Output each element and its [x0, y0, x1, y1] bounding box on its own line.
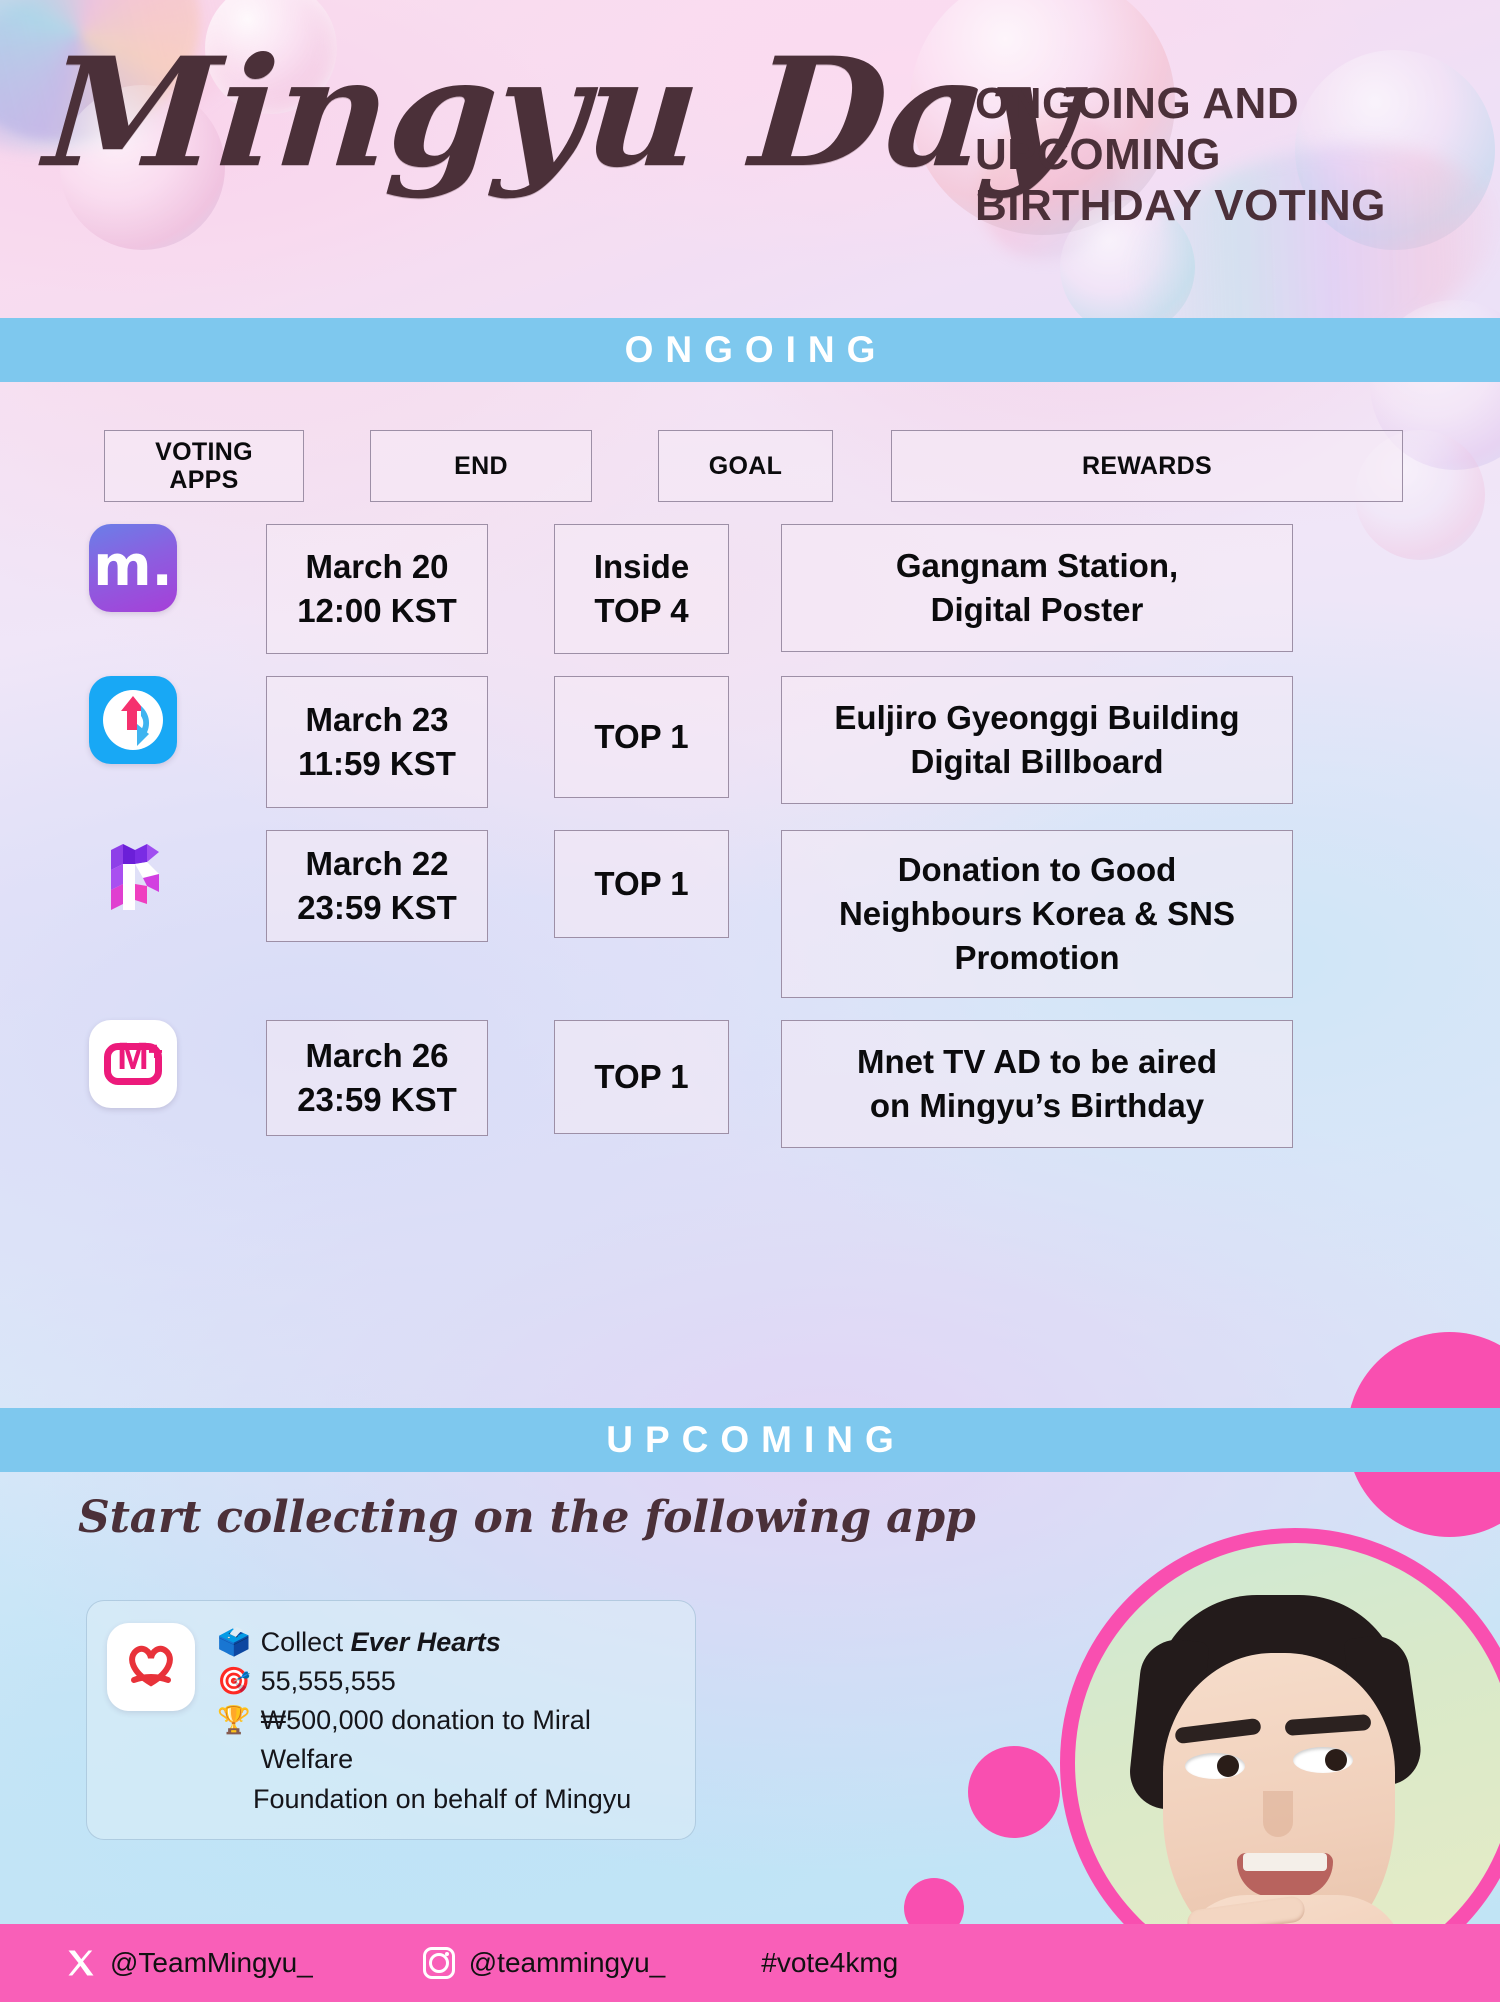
- heart-ribbon-icon: [120, 1636, 182, 1698]
- section-banner-upcoming: UPCOMING: [0, 1408, 1500, 1472]
- table-cell-reward: Donation to Good Neighbours Korea & SNS …: [781, 830, 1293, 998]
- table-cell-app[interactable]: +: [0, 1020, 266, 1108]
- goal-line-1: Inside: [594, 545, 689, 589]
- end-time: 23:59 KST: [297, 1078, 457, 1122]
- ever-hearts-target-value: 55,555,555: [261, 1662, 396, 1701]
- teeth-shape: [1243, 1853, 1327, 1871]
- ever-hearts-reward-text: ₩500,000 donation to Miral Welfare: [261, 1701, 675, 1779]
- table-cell-goal: TOP 1: [554, 676, 729, 798]
- table-cell-end: March 23 11:59 KST: [266, 676, 488, 808]
- pupil-shape: [1217, 1755, 1239, 1777]
- table-cell-app[interactable]: m.: [0, 524, 266, 612]
- ever-hearts-card[interactable]: 🗳️ Collect Ever Hearts 🎯 55,555,555 🏆 ₩5…: [86, 1600, 696, 1840]
- pupil-shape: [1325, 1749, 1347, 1771]
- pink-circle-decoration: [968, 1746, 1060, 1838]
- choeaedol-app-icon[interactable]: [89, 676, 177, 764]
- page-title: Mingyu Day: [41, 38, 1081, 188]
- table-cell-reward: Euljiro Gyeonggi Building Digital Billbo…: [781, 676, 1293, 804]
- table-row: March 22 23:59 KST TOP 1 Donation to Goo…: [0, 830, 1500, 998]
- reward-line-1: Donation to Good: [839, 848, 1235, 892]
- ever-hearts-collect-text: Collect Ever Hearts: [261, 1623, 501, 1662]
- column-header-voting-apps: VOTING APPS: [104, 430, 304, 502]
- choeaedol-arrows-icon: [97, 684, 169, 756]
- goal-line-2: TOP 4: [594, 589, 689, 633]
- instagram-handle: @teammingyu_: [469, 1947, 666, 1979]
- column-header-end: END: [370, 430, 592, 502]
- ongoing-table: VOTING APPS END GOAL REWARDS m. March 20…: [0, 430, 1500, 1170]
- ever-hearts-app-icon[interactable]: [107, 1623, 195, 1711]
- instagram-handle-group[interactable]: @teammingyu_: [423, 1947, 666, 1979]
- end-time: 11:59 KST: [298, 742, 456, 786]
- ever-hearts-line-target: 🎯 55,555,555: [217, 1662, 675, 1701]
- twitter-handle: @TeamMingyu_: [110, 1947, 313, 1979]
- table-cell-reward: Gangnam Station, Digital Poster: [781, 524, 1293, 652]
- table-cell-reward: Mnet TV AD to be aired on Mingyu’s Birth…: [781, 1020, 1293, 1148]
- hashtag: #vote4kmg: [761, 1947, 898, 1979]
- column-header-voting-apps-line2: APPS: [155, 466, 253, 494]
- table-row: m. March 20 12:00 KST Inside TOP 4 Gangn…: [0, 524, 1500, 654]
- ever-hearts-line-reward: 🏆 ₩500,000 donation to Miral Welfare: [217, 1701, 675, 1779]
- reward-line-2: Neighbours Korea & SNS: [839, 892, 1235, 936]
- upcoming-heading: Start collecting on the following app: [78, 1492, 976, 1543]
- reward-line-1: Mnet TV AD to be aired: [857, 1040, 1217, 1084]
- x-logo-icon: [66, 1948, 96, 1978]
- ever-hearts-reward-text-2: Foundation on behalf of Mingyu: [217, 1780, 675, 1819]
- subtitle-line-3: BIRTHDAY VOTING: [975, 180, 1475, 231]
- table-cell-end: March 22 23:59 KST: [266, 830, 488, 942]
- collect-emphasis: Ever Hearts: [351, 1627, 501, 1657]
- twitter-handle-group[interactable]: @TeamMingyu_: [66, 1947, 313, 1979]
- end-date: March 26: [297, 1034, 457, 1078]
- table-cell-end: March 26 23:59 KST: [266, 1020, 488, 1136]
- reward-line-1: Gangnam Station,: [896, 544, 1178, 588]
- poster-canvas: Mingyu Day ONGOING AND UPCOMING BIRTHDAY…: [0, 0, 1500, 2002]
- collect-prefix: Collect: [261, 1627, 351, 1657]
- subtitle-line-1: ONGOING AND: [975, 78, 1475, 129]
- reward-line-3: Promotion: [839, 936, 1235, 980]
- table-cell-goal: Inside TOP 4: [554, 524, 729, 654]
- end-time: 12:00 KST: [297, 589, 457, 633]
- nose-shape: [1263, 1791, 1293, 1837]
- end-time: 23:59 KST: [297, 886, 457, 930]
- table-cell-end: March 20 12:00 KST: [266, 524, 488, 654]
- target-icon: 🎯: [217, 1662, 251, 1701]
- trophy-icon: 🏆: [217, 1701, 251, 1740]
- ever-hearts-line-collect: 🗳️ Collect Ever Hearts: [217, 1623, 675, 1662]
- instagram-logo-icon: [423, 1947, 455, 1979]
- reward-line-2: on Mingyu’s Birthday: [857, 1084, 1217, 1128]
- ever-hearts-details: 🗳️ Collect Ever Hearts 🎯 55,555,555 🏆 ₩5…: [217, 1623, 675, 1819]
- reward-line-1: Euljiro Gyeonggi Building: [834, 696, 1239, 740]
- mubeat-app-icon-glyph: m.: [89, 539, 177, 595]
- table-row: March 23 11:59 KST TOP 1 Euljiro Gyeongg…: [0, 676, 1500, 808]
- kstarlive-k-icon: [89, 830, 177, 918]
- kstarlive-app-icon[interactable]: [89, 830, 177, 918]
- page-subtitle: ONGOING AND UPCOMING BIRTHDAY VOTING: [975, 78, 1475, 231]
- mnet-plus-badge: +: [148, 1036, 163, 1067]
- section-banner-upcoming-label: UPCOMING: [594, 1419, 906, 1461]
- section-banner-ongoing-label: ONGOING: [613, 329, 888, 371]
- table-row: + March 26 23:59 KST TOP 1 Mnet TV AD to…: [0, 1020, 1500, 1148]
- column-header-voting-apps-line1: VOTING: [155, 438, 253, 466]
- hashtag-group: #vote4kmg: [761, 1947, 898, 1979]
- table-cell-app[interactable]: [0, 830, 266, 918]
- table-header-row: VOTING APPS END GOAL REWARDS: [0, 430, 1500, 502]
- poster-header: Mingyu Day ONGOING AND UPCOMING BIRTHDAY…: [0, 0, 1500, 318]
- end-date: March 20: [297, 545, 457, 589]
- reward-line-2: Digital Poster: [896, 588, 1178, 632]
- mnet-plus-app-icon[interactable]: +: [89, 1020, 177, 1108]
- table-cell-goal: TOP 1: [554, 830, 729, 938]
- table-cell-goal: TOP 1: [554, 1020, 729, 1134]
- section-banner-ongoing: ONGOING: [0, 318, 1500, 382]
- end-date: March 22: [297, 842, 457, 886]
- column-header-goal: GOAL: [658, 430, 833, 502]
- ballot-box-icon: 🗳️: [217, 1623, 251, 1662]
- column-header-rewards: REWARDS: [891, 430, 1403, 502]
- table-cell-app[interactable]: [0, 676, 266, 764]
- poster-footer: @TeamMingyu_ @teammingyu_ #vote4kmg: [0, 1924, 1500, 2002]
- subtitle-line-2: UPCOMING: [975, 129, 1475, 180]
- reward-line-2: Digital Billboard: [834, 740, 1239, 784]
- mubeat-app-icon[interactable]: m.: [89, 524, 177, 612]
- end-date: March 23: [298, 698, 456, 742]
